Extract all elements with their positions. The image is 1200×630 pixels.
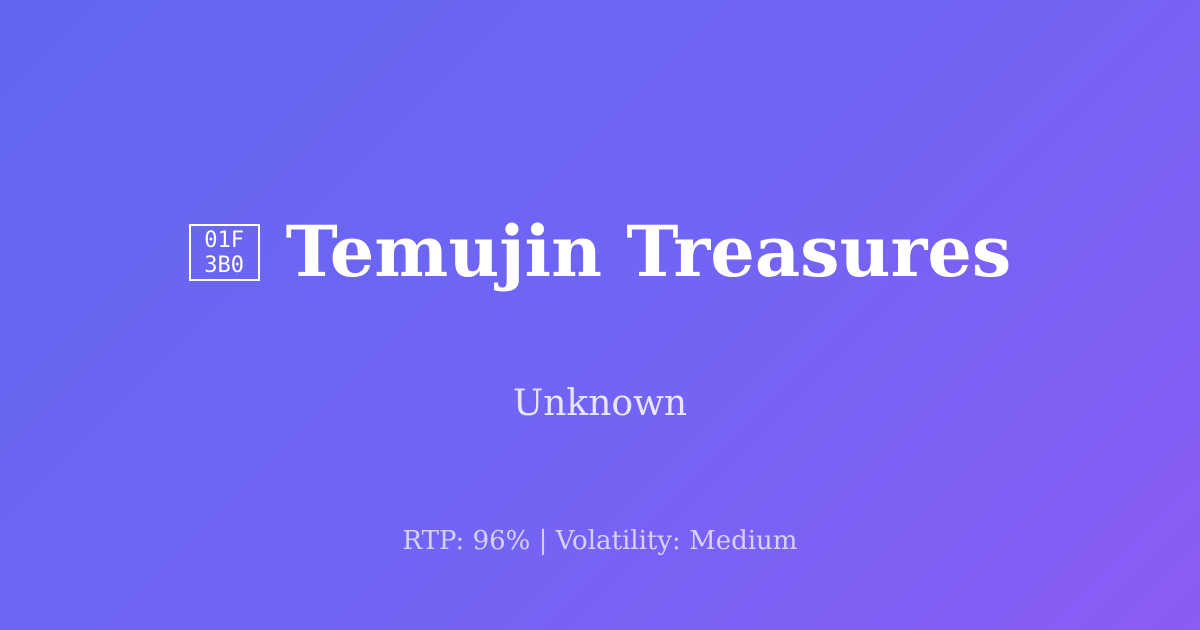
page-title: Temujin Treasures [286,215,1012,289]
game-provider: Unknown [513,384,687,424]
slot-machine-icon-codepoint-bottom: 3B0 [204,253,244,278]
game-preview-card: 01F 3B0 Temujin Treasures Unknown RTP: 9… [0,0,1200,630]
slot-machine-icon-codepoint-top: 01F [204,228,244,253]
game-stats: RTP: 96% | Volatility: Medium [0,526,1200,556]
slot-machine-icon: 01F 3B0 [189,224,260,281]
title-row: 01F 3B0 Temujin Treasures [189,168,1012,336]
